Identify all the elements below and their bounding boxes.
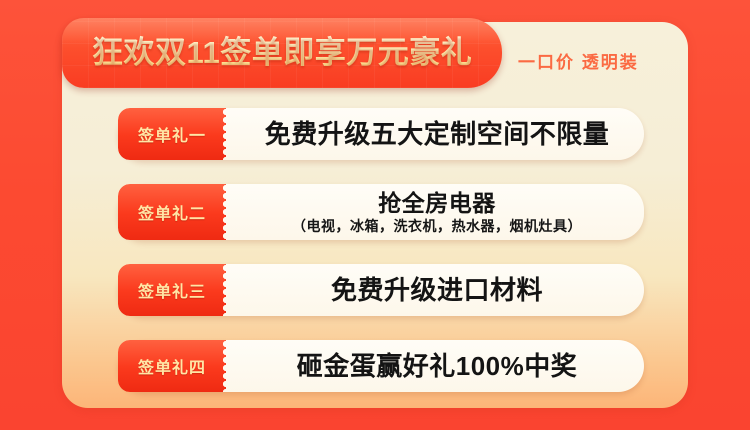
gift-tag-label: 签单礼四	[138, 354, 206, 378]
gift-tag: 签单礼三	[118, 264, 226, 316]
gift-tag-label: 签单礼三	[138, 278, 206, 302]
gift-row-body: 砸金蛋赢好礼100%中奖	[230, 340, 644, 392]
gift-row[interactable]: 签单礼一 免费升级五大定制空间不限量	[118, 108, 644, 160]
gift-list: 签单礼一 免费升级五大定制空间不限量 签单礼二 抢全房电器 （电视，冰箱，洗衣机…	[118, 108, 644, 416]
gift-main-text: 抢全房电器	[378, 190, 496, 216]
gift-row[interactable]: 签单礼三 免费升级进口材料	[118, 264, 644, 316]
gift-main-text: 免费升级进口材料	[331, 275, 543, 305]
gift-row-body: 免费升级五大定制空间不限量	[230, 108, 644, 160]
gift-sub-text: （电视，冰箱，洗衣机，热水器，烟机灶具）	[292, 217, 582, 235]
gift-tag: 签单礼四	[118, 340, 226, 392]
page-title: 狂欢双11签单即享万元豪礼	[92, 32, 492, 74]
gift-tag-label: 签单礼二	[138, 200, 206, 224]
promo-banner: 狂欢双11签单即享万元豪礼 一口价 透明装 签单礼一 免费升级五大定制空间不限量…	[0, 0, 750, 430]
gift-tag-label: 签单礼一	[138, 122, 206, 146]
gift-row[interactable]: 签单礼四 砸金蛋赢好礼100%中奖	[118, 340, 644, 392]
gift-tag: 签单礼一	[118, 108, 226, 160]
gift-row-body: 免费升级进口材料	[230, 264, 644, 316]
gift-main-text: 砸金蛋赢好礼100%中奖	[297, 351, 578, 381]
gift-row-body: 抢全房电器 （电视，冰箱，洗衣机，热水器，烟机灶具）	[230, 184, 644, 240]
gift-tag: 签单礼二	[118, 184, 226, 240]
header-side-tag: 一口价 透明装	[518, 48, 639, 73]
gift-row[interactable]: 签单礼二 抢全房电器 （电视，冰箱，洗衣机，热水器，烟机灶具）	[118, 184, 644, 240]
gift-main-text: 免费升级五大定制空间不限量	[265, 119, 610, 149]
